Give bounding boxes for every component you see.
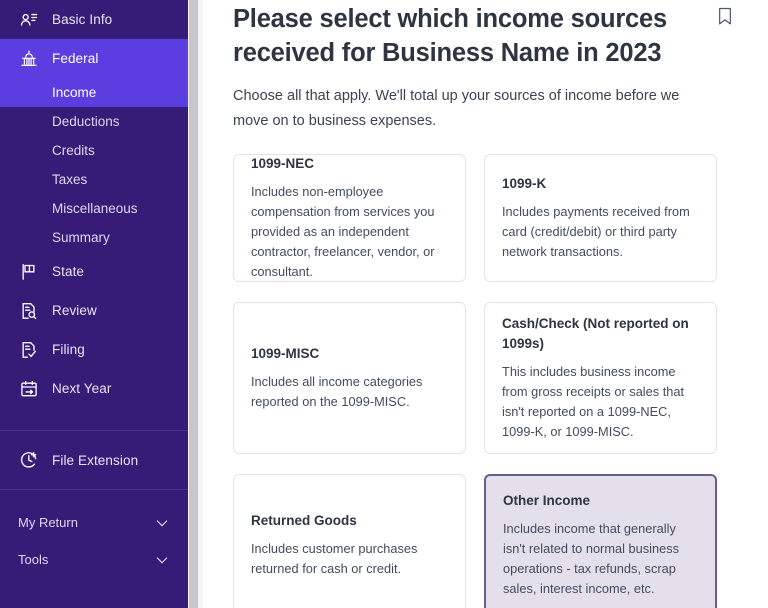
- sidebar-item-label: State: [52, 264, 84, 279]
- clock-plus-icon: [18, 449, 40, 471]
- sidebar-collapse-label: Tools: [18, 552, 48, 567]
- app-root: Basic Info Federa: [0, 0, 768, 608]
- sidebar-subitem-credits[interactable]: Credits: [0, 136, 188, 165]
- sidebar-item-filing[interactable]: Filing: [0, 330, 188, 369]
- document-check-icon: [18, 339, 40, 361]
- sidebar-item-next-year[interactable]: Next Year: [0, 369, 188, 408]
- sidebar-subitem-summary[interactable]: Summary: [0, 223, 188, 252]
- card-title: Other Income: [503, 491, 698, 511]
- page-title: Please select which income sources recei…: [233, 2, 695, 70]
- sidebar-item-review[interactable]: Review: [0, 291, 188, 330]
- sidebar-subitem-label: Taxes: [52, 172, 87, 187]
- document-search-icon: [18, 300, 40, 322]
- card-title: 1099-K: [502, 174, 699, 194]
- sidebar-item-label: Federal: [52, 51, 98, 66]
- card-description: Includes non-employee compensation from …: [251, 182, 448, 282]
- sidebar-collapse-label: My Return: [18, 515, 78, 530]
- card-description: Includes customer purchases returned for…: [251, 539, 448, 579]
- sidebar-subitem-label: Credits: [52, 143, 95, 158]
- sidebar-subitem-miscellaneous[interactable]: Miscellaneous: [0, 194, 188, 223]
- sidebar-collapse-tools[interactable]: Tools: [0, 541, 188, 578]
- sidebar-subitem-label: Deductions: [52, 114, 120, 129]
- sidebar-subitem-label: Miscellaneous: [52, 201, 138, 216]
- contact-card-icon: [18, 9, 40, 31]
- calendar-arrow-icon: [18, 378, 40, 400]
- page-subtitle: Choose all that apply. We'll total up yo…: [233, 84, 711, 134]
- card-description: Includes all income categories reported …: [251, 372, 448, 412]
- scrollbar-thumb[interactable]: [189, 0, 198, 608]
- sidebar-subitem-label: Income: [52, 85, 96, 100]
- sidebar-collapse-my-return[interactable]: My Return: [0, 504, 188, 541]
- sidebar-subitem-income[interactable]: Income: [0, 78, 188, 107]
- sidebar-bottom-section: My Return Tools: [0, 490, 188, 578]
- capitol-building-icon: [18, 48, 40, 70]
- sidebar-item-federal[interactable]: Federal: [0, 39, 188, 78]
- income-card-1099-k[interactable]: 1099-K Includes payments received from c…: [484, 154, 717, 282]
- flag-icon: [18, 261, 40, 283]
- bookmark-icon[interactable]: [717, 7, 735, 27]
- sidebar-spacer-top: [0, 408, 188, 430]
- sidebar-item-basic-info[interactable]: Basic Info: [0, 0, 188, 39]
- card-title: Returned Goods: [251, 511, 448, 531]
- main-content: Please select which income sources recei…: [188, 0, 768, 608]
- sidebar-item-file-extension[interactable]: File Extension: [0, 431, 188, 489]
- income-card-cash-check[interactable]: Cash/Check (Not reported on 1099s) This …: [484, 302, 717, 454]
- card-title: Cash/Check (Not reported on 1099s): [502, 314, 699, 354]
- card-description: Includes payments received from card (cr…: [502, 202, 699, 262]
- income-card-returned-goods[interactable]: Returned Goods Includes customer purchas…: [233, 474, 466, 608]
- title-row: Please select which income sources recei…: [233, 0, 735, 70]
- card-title: 1099-NEC: [251, 154, 448, 174]
- sidebar-item-label: File Extension: [52, 453, 138, 468]
- sidebar-group-federal: Federal Income: [0, 39, 188, 107]
- card-description: Includes income that generally isn't rel…: [503, 519, 698, 599]
- card-title: 1099-MISC: [251, 344, 448, 364]
- sidebar-subitem-label: Summary: [52, 230, 110, 245]
- sidebar: Basic Info Federa: [0, 0, 188, 608]
- sidebar-spacer-bottom: [0, 490, 188, 504]
- chevron-down-icon: [154, 552, 170, 568]
- card-description: This includes business income from gross…: [502, 362, 699, 442]
- sidebar-item-label: Basic Info: [52, 12, 112, 27]
- income-card-other-income[interactable]: Other Income Includes income that genera…: [484, 474, 717, 608]
- sidebar-subitem-deductions[interactable]: Deductions: [0, 107, 188, 136]
- sidebar-item-label: Next Year: [52, 381, 111, 396]
- chevron-down-icon: [154, 515, 170, 531]
- income-source-card-grid: 1099-NEC Includes non-employee compensat…: [233, 154, 735, 608]
- income-card-1099-nec[interactable]: 1099-NEC Includes non-employee compensat…: [233, 154, 466, 282]
- sidebar-item-label: Review: [52, 303, 97, 318]
- sidebar-item-label: Filing: [52, 342, 85, 357]
- sidebar-item-state[interactable]: State: [0, 252, 188, 291]
- sidebar-subitem-taxes[interactable]: Taxes: [0, 165, 188, 194]
- income-card-1099-misc[interactable]: 1099-MISC Includes all income categories…: [233, 302, 466, 454]
